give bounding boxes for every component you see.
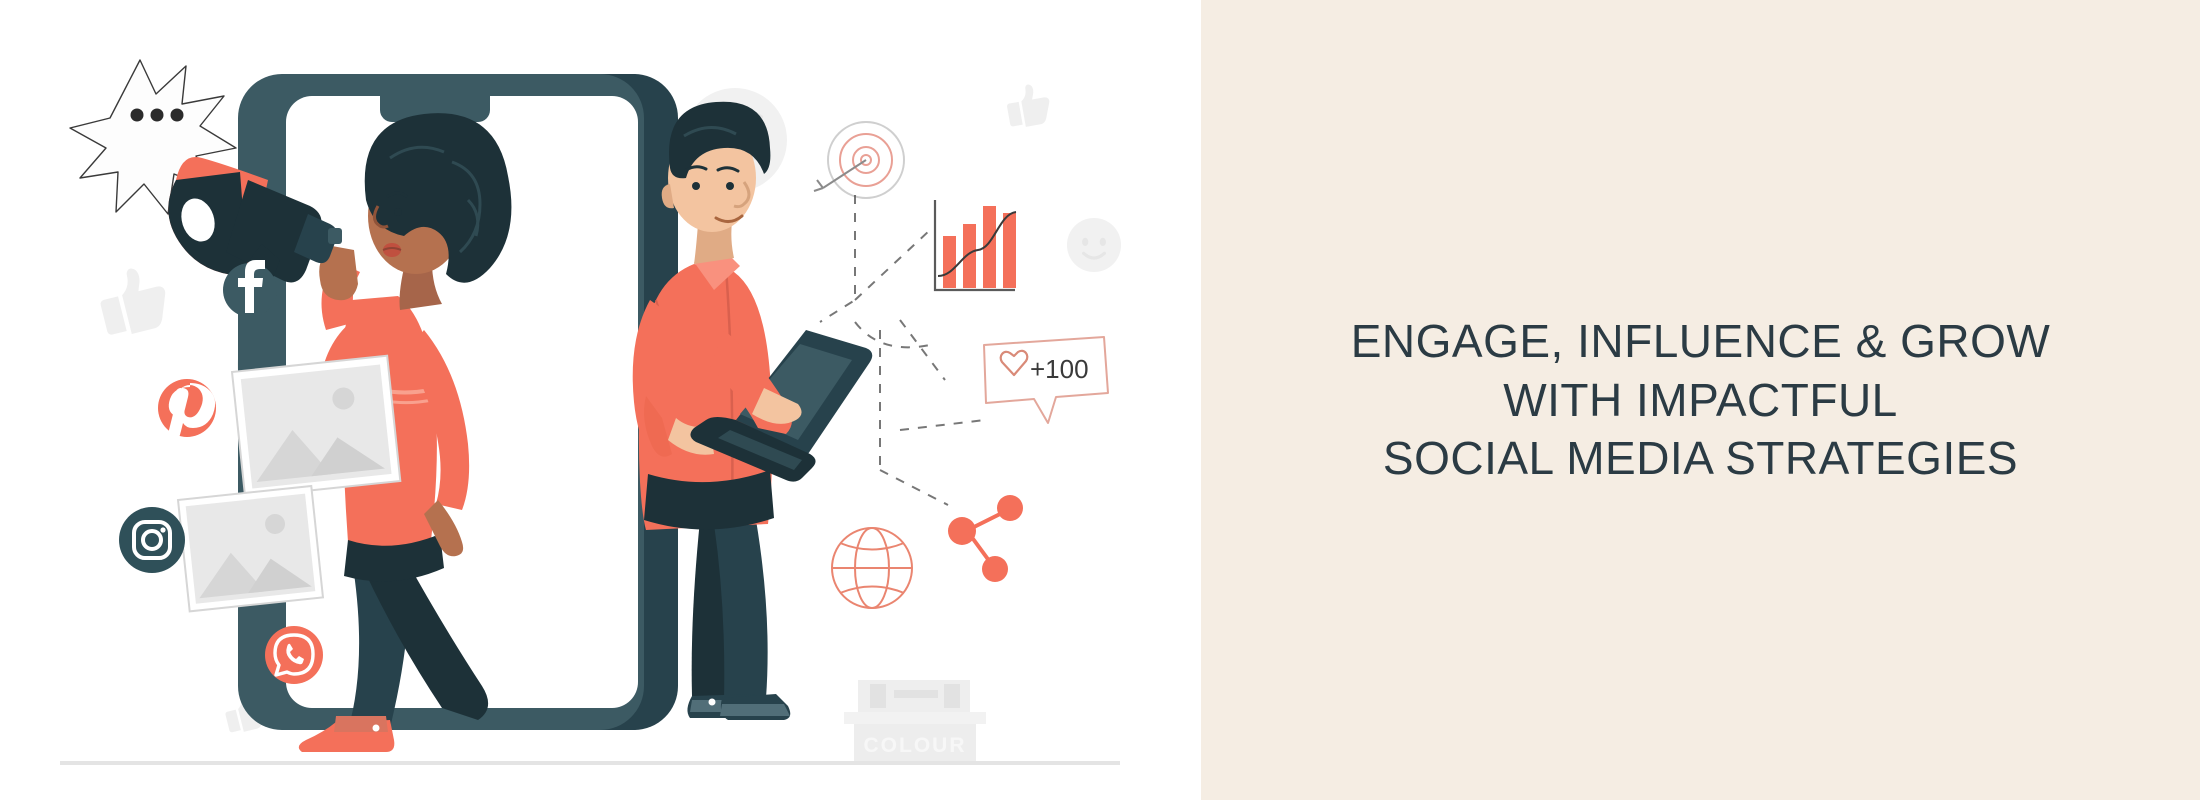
books-icon: COLOUR <box>844 680 986 762</box>
headline-block: ENGAGE, INFLUENCE & GROW WITH IMPACTFUL … <box>1201 312 2200 489</box>
instagram-icon <box>119 507 185 573</box>
headline-panel: ENGAGE, INFLUENCE & GROW WITH IMPACTFUL … <box>1201 0 2200 800</box>
smiley-icon <box>1067 218 1121 272</box>
banner-root: +100 <box>0 0 2200 800</box>
illustration-panel: +100 <box>0 0 1201 800</box>
image-placeholder-icon <box>178 486 323 611</box>
whatsapp-icon <box>265 626 323 684</box>
social-media-illustration: +100 <box>0 0 1201 800</box>
headline-line-3: SOCIAL MEDIA STRATEGIES <box>1201 429 2200 488</box>
book-label: COLOUR <box>864 734 967 757</box>
likes-badge-label: +100 <box>1030 354 1089 384</box>
headline-line-2: WITH IMPACTFUL <box>1201 371 2200 430</box>
image-placeholder-icon <box>232 356 400 498</box>
headline-line-1: ENGAGE, INFLUENCE & GROW <box>1201 312 2200 371</box>
